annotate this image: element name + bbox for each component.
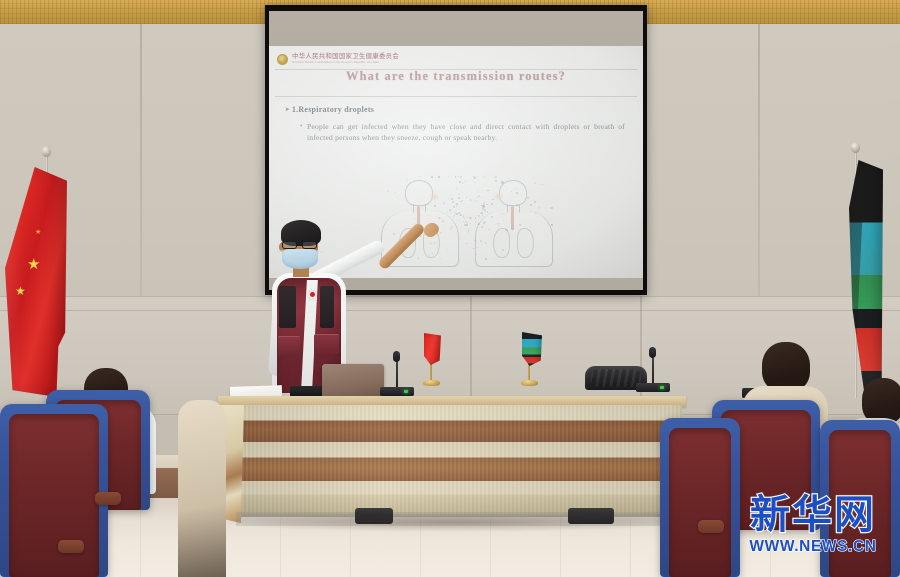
watermark-text-cn: 新华网 bbox=[733, 495, 893, 535]
wall-seam bbox=[758, 24, 760, 304]
chair-armrest bbox=[58, 540, 84, 553]
slide-bullet-heading: 1.Respiratory droplets bbox=[285, 105, 374, 114]
eyeglasses-icon bbox=[282, 241, 319, 249]
national-emblem-icon bbox=[277, 54, 288, 65]
slide-title: What are the transmission routes? bbox=[269, 69, 643, 84]
organization-name-cn: 中华人民共和国国家卫生健康委员会 bbox=[292, 53, 399, 59]
presenter-vest-pocket bbox=[314, 334, 339, 354]
striped-tablecloth bbox=[222, 405, 682, 517]
audience-chair bbox=[0, 404, 108, 577]
slide-body-text: People can get infected when they have c… bbox=[307, 121, 625, 143]
wall-trim-line bbox=[0, 296, 900, 297]
desk-flag-base-left bbox=[423, 380, 440, 386]
presenter-vest-panel bbox=[279, 286, 296, 328]
audience-head bbox=[762, 342, 810, 392]
table-shadow bbox=[215, 516, 695, 532]
desk-flag-base-right bbox=[521, 380, 538, 386]
slide-title-rule bbox=[275, 96, 637, 97]
chair-armrest bbox=[95, 492, 121, 505]
audience-chair bbox=[660, 418, 740, 577]
organization-name-en: National Health Commission of the People… bbox=[292, 61, 399, 64]
photo-scene: 中华人民共和国国家卫生健康委员会 National Health Commiss… bbox=[0, 0, 900, 577]
presenter-badge bbox=[308, 290, 317, 301]
audience-body bbox=[178, 400, 226, 577]
xinhua-watermark: 新华网 WWW.NEWS.CN bbox=[733, 495, 893, 567]
gooseneck-microphone bbox=[636, 348, 670, 392]
presenter-vest-panel bbox=[320, 286, 334, 328]
presentation-table bbox=[222, 396, 682, 524]
slide-header: 中华人民共和国国家卫生健康委员会 National Health Commiss… bbox=[277, 49, 637, 69]
chair-armrest bbox=[698, 520, 724, 533]
laptop-computer bbox=[322, 364, 384, 398]
face-mask-icon bbox=[282, 249, 318, 269]
human-torso-right-icon bbox=[473, 180, 555, 268]
watermark-url: WWW.NEWS.CN bbox=[733, 539, 893, 555]
presenter-vest-pocket bbox=[278, 336, 300, 356]
flagpole-finial-right bbox=[851, 142, 860, 153]
wall-seam bbox=[140, 24, 142, 304]
flagpole-finial-left bbox=[42, 146, 51, 157]
gooseneck-microphone bbox=[380, 352, 414, 396]
wall-trim-line bbox=[0, 310, 900, 311]
